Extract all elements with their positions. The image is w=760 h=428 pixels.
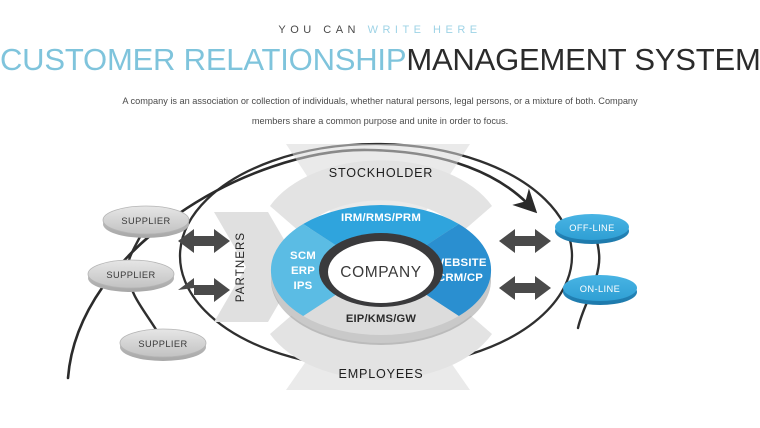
stockholder-label: STOCKHOLDER xyxy=(329,166,433,180)
eyebrow-line: YOU CAN WRITE HERE xyxy=(0,24,760,36)
node-supplier-3-label: SUPPLIER xyxy=(138,339,187,349)
node-supplier-1-label: SUPPLIER xyxy=(121,216,170,226)
arrow-pair-right xyxy=(499,229,551,300)
double-arrow-right-bottom xyxy=(499,276,551,300)
node-supplier-2[interactable]: SUPPLIER xyxy=(88,260,174,292)
segment-right-label-2: CRM/CP xyxy=(437,272,483,284)
segment-left-label-1: SCM xyxy=(290,250,316,262)
crm-diagram: PARTNERS STOCKHOLDER EMPLOYEES IRM/RMS/P… xyxy=(0,128,760,428)
core-label: COMPANY xyxy=(340,264,421,281)
eyebrow-accent-text: WRITE HERE xyxy=(368,24,482,36)
node-supplier-3[interactable]: SUPPLIER xyxy=(120,329,206,361)
segment-left-label-2: ERP xyxy=(291,265,315,277)
eyebrow-dark-text: YOU CAN xyxy=(278,24,360,36)
slide-canvas: YOU CAN WRITE HERE CUSTOMER RELATIONSHIP… xyxy=(0,0,760,428)
employees-label: EMPLOYEES xyxy=(339,367,424,381)
title-accent-part: CUSTOMER RELATIONSHIP xyxy=(0,42,406,77)
node-on-line[interactable]: ON-LINE xyxy=(563,275,637,305)
node-off-line[interactable]: OFF-LINE xyxy=(555,214,629,244)
node-supplier-1[interactable]: SUPPLIER xyxy=(103,206,189,238)
double-arrow-left-top xyxy=(178,229,230,253)
segment-top-label: IRM/RMS/PRM xyxy=(341,212,421,224)
node-off-line-label: OFF-LINE xyxy=(569,223,615,233)
intro-paragraph: A company is an association or collectio… xyxy=(118,91,642,131)
node-on-line-label: ON-LINE xyxy=(580,284,621,294)
node-supplier-2-label: SUPPLIER xyxy=(106,270,155,280)
company-core[interactable]: COMPANY xyxy=(340,264,421,281)
title-dark-part: MANAGEMENT SYSTEM xyxy=(406,42,760,77)
double-arrow-right-top xyxy=(499,229,551,253)
segment-left-label-3: IPS xyxy=(294,280,313,292)
page-title: CUSTOMER RELATIONSHIPMANAGEMENT SYSTEM xyxy=(0,42,760,78)
arrow-pair-left xyxy=(178,229,230,302)
segment-bottom-label: EIP/KMS/GW xyxy=(346,313,417,325)
partners-label: PARTNERS xyxy=(235,232,247,302)
